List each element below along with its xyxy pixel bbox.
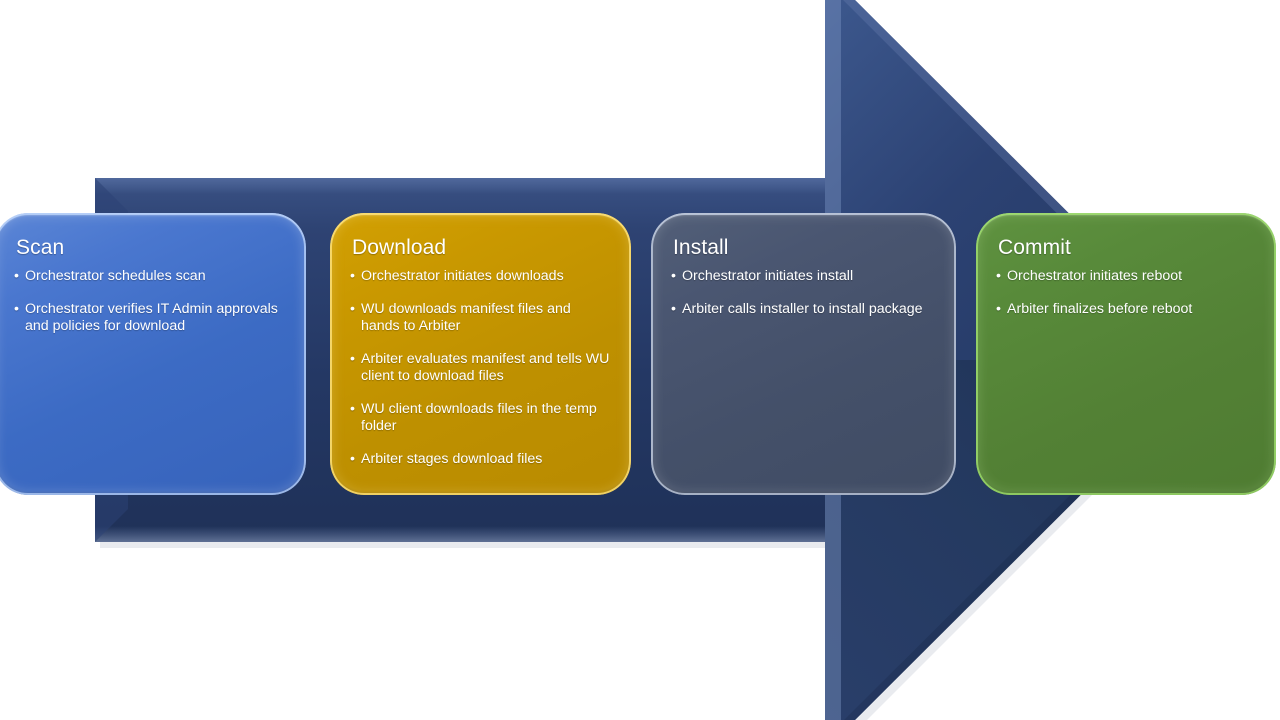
list-item-text: Orchestrator initiates downloads [361,268,564,284]
list-item-text: Arbiter calls installer to install packa… [682,301,923,317]
phase-scan-body: Scan •Orchestrator schedules scan •Orche… [0,213,306,495]
list-item-text: Arbiter evaluates manifest and tells WU … [361,351,609,385]
phase-install-title: Install [673,235,936,261]
list-item-text: Arbiter stages download files [361,451,542,467]
phase-box-commit[interactable]: Commit •Orchestrator initiates reboot •A… [976,213,1276,495]
phase-download-body: Download •Orchestrator initiates downloa… [330,213,631,495]
phase-commit-bullet-list: •Orchestrator initiates reboot •Arbiter … [996,268,1256,318]
bullet-icon: • [996,268,1001,286]
phase-install-bullet-list: •Orchestrator initiates install •Arbiter… [671,268,936,318]
list-item: •WU downloads manifest files and hands t… [350,301,611,336]
list-item: •Arbiter evaluates manifest and tells WU… [350,351,611,386]
list-item-text: WU downloads manifest files and hands to… [361,301,571,335]
bullet-icon: • [996,301,1001,319]
list-item: •Arbiter stages download files [350,451,611,469]
list-item: •Orchestrator schedules scan [14,268,286,286]
list-item: •Arbiter finalizes before reboot [996,301,1256,319]
diagram-canvas: Scan •Orchestrator schedules scan •Orche… [0,0,1280,720]
list-item-text: Orchestrator schedules scan [25,268,206,284]
list-item: •Orchestrator verifies IT Admin approval… [14,301,286,336]
phase-scan-title: Scan [16,235,286,261]
list-item: •Orchestrator initiates reboot [996,268,1256,286]
bullet-icon: • [350,301,355,319]
phase-box-download[interactable]: Download •Orchestrator initiates downloa… [330,213,631,495]
phase-install-body: Install •Orchestrator initiates install … [651,213,956,495]
bullet-icon: • [350,451,355,469]
list-item: •WU client downloads files in the temp f… [350,401,611,436]
phase-box-install[interactable]: Install •Orchestrator initiates install … [651,213,956,495]
bullet-icon: • [350,268,355,286]
bullet-icon: • [671,268,676,286]
phase-commit-title: Commit [998,235,1256,261]
bullet-icon: • [350,351,355,369]
phase-download-title: Download [352,235,611,261]
list-item-text: WU client downloads files in the temp fo… [361,401,597,435]
list-item-text: Orchestrator verifies IT Admin approvals… [25,301,278,335]
list-item: •Arbiter calls installer to install pack… [671,301,936,319]
phase-box-scan[interactable]: Scan •Orchestrator schedules scan •Orche… [0,213,306,495]
phase-scan-bullet-list: •Orchestrator schedules scan •Orchestrat… [14,268,286,336]
bullet-icon: • [350,401,355,419]
list-item-text: Orchestrator initiates install [682,268,853,284]
bullet-icon: • [14,301,19,319]
list-item: •Orchestrator initiates downloads [350,268,611,286]
list-item: •Orchestrator initiates install [671,268,936,286]
bullet-icon: • [14,268,19,286]
list-item-text: Arbiter finalizes before reboot [1007,301,1192,317]
phase-download-bullet-list: •Orchestrator initiates downloads •WU do… [350,268,611,468]
list-item-text: Orchestrator initiates reboot [1007,268,1182,284]
bullet-icon: • [671,301,676,319]
phase-commit-body: Commit •Orchestrator initiates reboot •A… [976,213,1276,495]
